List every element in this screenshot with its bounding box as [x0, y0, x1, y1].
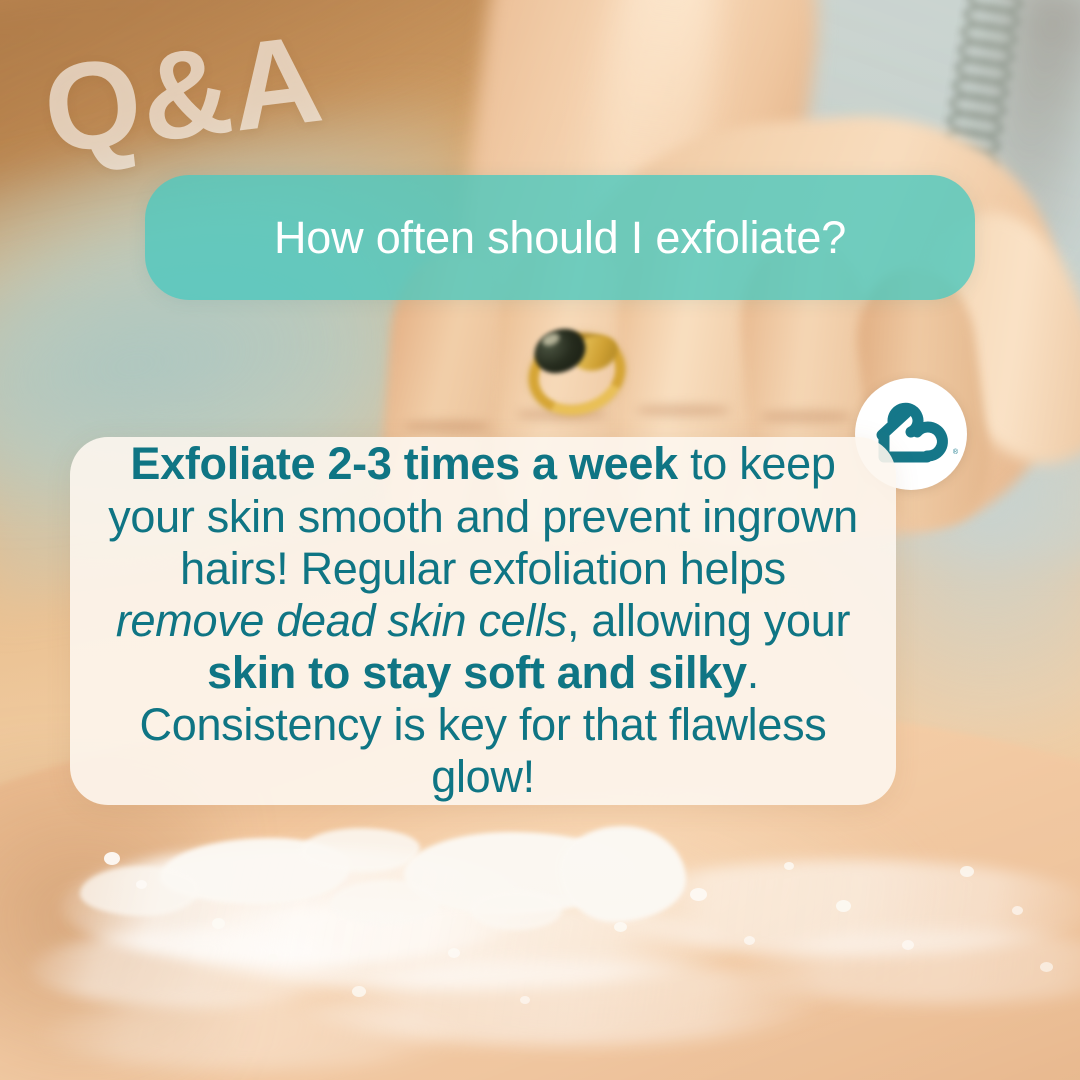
answer-segment-bold: Exfoliate 2-3 times a week	[130, 438, 677, 489]
trademark-symbol: ®	[953, 449, 958, 456]
photo-scrub-speck	[902, 940, 914, 950]
photo-scrub-speck	[448, 948, 460, 958]
photo-knuckle	[636, 404, 730, 417]
question-text: How often should I exfoliate?	[248, 213, 872, 263]
answer-segment-normal: , allowing your	[567, 595, 850, 646]
photo-scrub-speck	[1040, 962, 1053, 972]
photo-scrub-speck	[744, 936, 755, 945]
answer-text: Exfoliate 2-3 times a week to keep your …	[70, 438, 896, 803]
answer-segment-bold: skin to stay soft and silky	[207, 647, 747, 698]
photo-scrub-speck	[690, 888, 707, 901]
photo-scrub-speck	[268, 954, 278, 962]
post-canvas: Q&A How often should I exfoliate? ® Exfo…	[0, 0, 1080, 1080]
photo-scrub-speck	[614, 922, 627, 932]
photo-scrub-speck	[352, 986, 366, 997]
photo-knuckle	[404, 420, 490, 433]
photo-scrub-speck	[136, 880, 147, 889]
photo-scrub-speck	[784, 862, 794, 870]
photo-scrub-blob	[300, 828, 420, 872]
photo-scrub-blob	[80, 866, 200, 916]
photo-scrub-blob	[560, 826, 686, 922]
photo-scrub-speck	[212, 918, 225, 929]
photo-scrub-blob	[470, 890, 562, 930]
photo-scrub-speck	[960, 866, 974, 877]
photo-scrub-smear	[30, 930, 360, 1008]
photo-scrub-speck	[836, 900, 851, 912]
question-banner: How often should I exfoliate?	[145, 175, 975, 300]
photo-scrub-smear	[40, 1000, 460, 1070]
photo-scrub-speck	[104, 852, 120, 865]
photo-scrub-speck	[520, 996, 530, 1004]
photo-scrub-blob	[330, 880, 440, 926]
photo-scrub-speck	[1012, 906, 1023, 915]
photo-knuckle	[760, 410, 852, 423]
answer-segment-italic: remove dead skin cells	[116, 595, 567, 646]
answer-card: Exfoliate 2-3 times a week to keep your …	[70, 437, 896, 805]
